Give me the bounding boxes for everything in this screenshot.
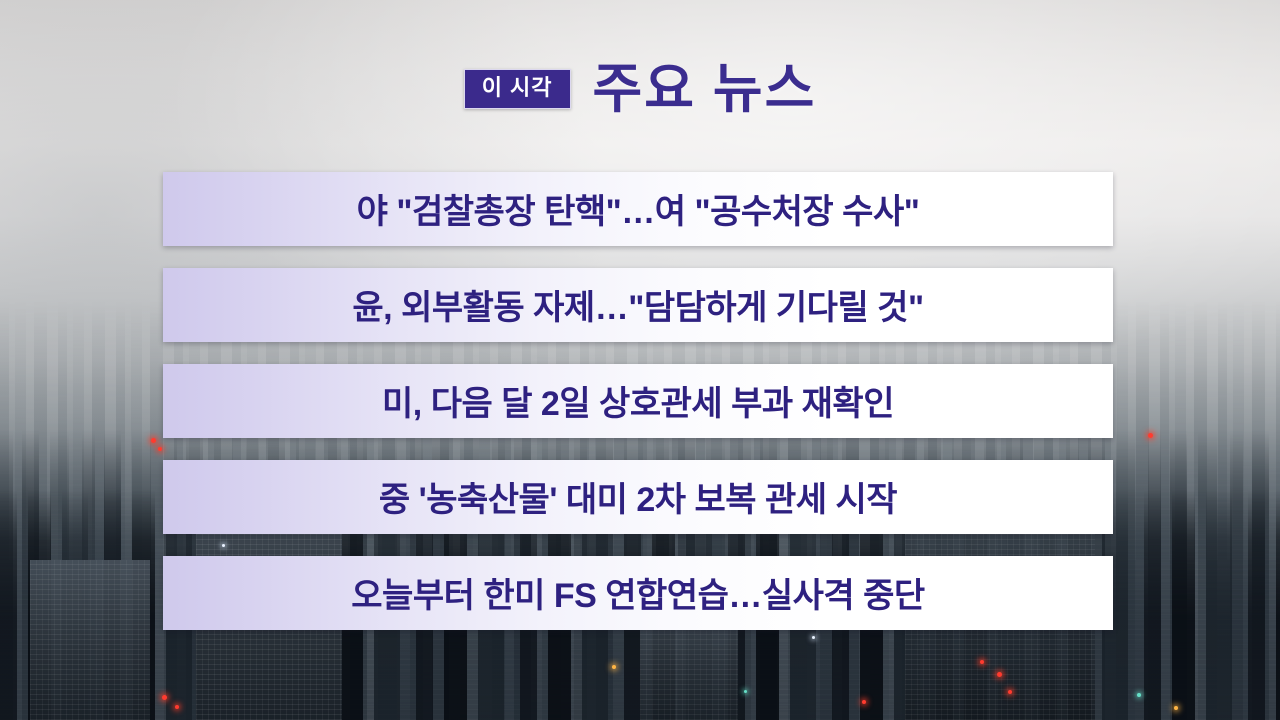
headline-item[interactable]: 오늘부터 한미 FS 연합연습…실사격 중단	[163, 556, 1113, 630]
headline-item[interactable]: 윤, 외부활동 자제…"담담하게 기다릴 것"	[163, 268, 1113, 342]
page-title: 주요 뉴스	[593, 62, 817, 116]
building-silhouette	[30, 560, 150, 720]
headline-text: 오늘부터 한미 FS 연합연습…실사격 중단	[325, 568, 950, 617]
headline-text: 윤, 외부활동 자제…"담담하게 기다릴 것"	[326, 280, 949, 329]
headline-item[interactable]: 중 '농축산물' 대미 2차 보복 관세 시작	[163, 460, 1113, 534]
headline-text: 미, 다음 달 2일 상호관세 부과 재확인	[356, 376, 920, 425]
headline-text: 야 "검찰총장 탄핵"…여 "공수처장 수사"	[331, 184, 946, 233]
headline-list: 야 "검찰총장 탄핵"…여 "공수처장 수사" 윤, 외부활동 자제…"담담하게…	[163, 172, 1113, 630]
news-overlay-stage: 이 시각 주요 뉴스 야 "검찰총장 탄핵"…여 "공수처장 수사" 윤, 외부…	[0, 0, 1280, 720]
now-badge: 이 시각	[464, 69, 571, 109]
headline-text: 중 '농축산물' 대미 2차 보복 관세 시작	[353, 472, 923, 521]
headline-item[interactable]: 미, 다음 달 2일 상호관세 부과 재확인	[163, 364, 1113, 438]
headline-header: 이 시각 주요 뉴스	[0, 62, 1280, 116]
headline-item[interactable]: 야 "검찰총장 탄핵"…여 "공수처장 수사"	[163, 172, 1113, 246]
